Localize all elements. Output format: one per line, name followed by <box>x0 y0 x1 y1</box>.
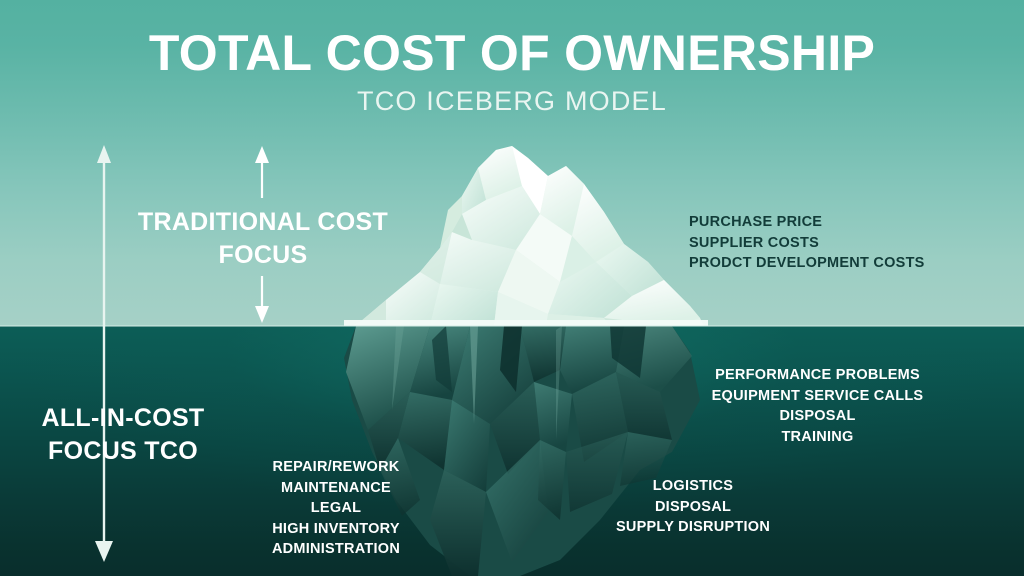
tco-iceberg-infographic: TOTAL COST OF OWNERSHIP TCO ICEBERG MODE… <box>0 0 1024 576</box>
cost-list-hidden-lower-left: REPAIR/REWORK MAINTENANCE LEGAL HIGH INV… <box>222 457 450 560</box>
waterline <box>0 325 1024 327</box>
traditional-cost-focus-line-1: TRADITIONAL COST <box>118 206 408 239</box>
list-item: PURCHASE PRICE <box>689 212 999 233</box>
cost-list-hidden-lower-right: LOGISTICS DISPOSAL SUPPLY DISRUPTION <box>545 476 841 538</box>
list-item: DISPOSAL <box>645 406 990 427</box>
list-item: SUPPLY DISRUPTION <box>545 517 841 538</box>
traditional-cost-focus-label: TRADITIONAL COST FOCUS <box>118 206 408 272</box>
list-item: ADMINISTRATION <box>222 539 450 560</box>
list-item: TRAINING <box>645 427 990 448</box>
list-item: PERFORMANCE PROBLEMS <box>645 365 990 386</box>
cost-list-hidden-upper-right: PERFORMANCE PROBLEMS EQUIPMENT SERVICE C… <box>645 365 990 447</box>
page-subtitle: TCO ICEBERG MODEL <box>0 87 1024 117</box>
list-item: DISPOSAL <box>545 497 841 518</box>
list-item: EQUIPMENT SERVICE CALLS <box>645 386 990 407</box>
list-item: SUPPLIER COSTS <box>689 233 999 254</box>
list-item: LEGAL <box>222 498 450 519</box>
all-in-cost-focus-line-2: FOCUS TCO <box>8 435 238 468</box>
list-item: LOGISTICS <box>545 476 841 497</box>
all-in-cost-focus-line-1: ALL-IN-COST <box>8 402 238 435</box>
list-item: PRODCT DEVELOPMENT COSTS <box>689 253 999 274</box>
all-in-cost-focus-label: ALL-IN-COST FOCUS TCO <box>8 402 238 468</box>
cost-list-visible-costs: PURCHASE PRICE SUPPLIER COSTS PRODCT DEV… <box>689 212 999 274</box>
page-title: TOTAL COST OF OWNERSHIP <box>0 27 1024 80</box>
list-item: REPAIR/REWORK <box>222 457 450 478</box>
list-item: HIGH INVENTORY <box>222 519 450 540</box>
traditional-cost-focus-line-2: FOCUS <box>118 239 408 272</box>
list-item: MAINTENANCE <box>222 478 450 499</box>
